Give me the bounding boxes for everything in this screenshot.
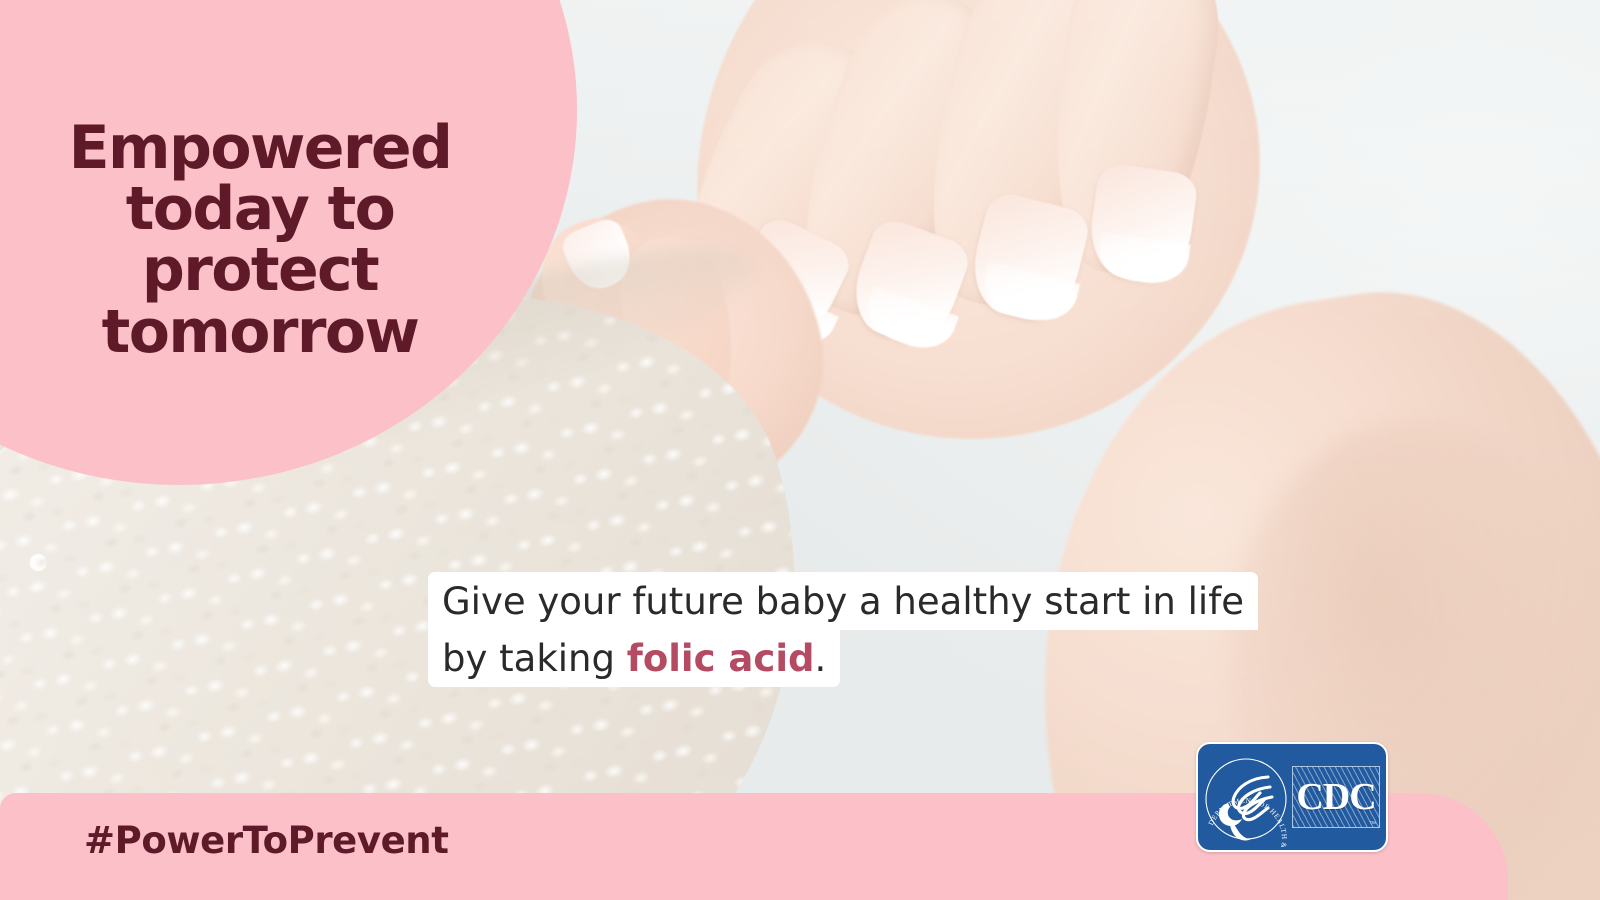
cdc-wordmark-text: CDC [1296,778,1375,816]
trademark-symbol: ™ [1369,821,1376,828]
headline-line-1: Empowered [0,118,520,179]
cdc-logo[interactable]: DEPARTMENT OF HEALTH & HUMAN SERVICES US… [1196,742,1388,852]
page-title: Empowered today to protect tomorrow [0,118,520,363]
poster-canvas: Empowered today to protect tomorrow Give… [0,0,1600,900]
body-copy-line-1: Give your future baby a healthy start in… [428,572,1258,630]
headline-line-3: tomorrow [0,302,520,363]
campaign-hashtag: #PowerToPrevent [84,819,449,862]
body-copy-prefix: by taking [442,637,627,680]
body-copy-suffix: . [815,637,827,680]
headline-line-2: today to protect [0,179,520,301]
body-copy-line-2: by taking folic acid. [428,629,840,687]
cdc-wordmark: CDC ™ [1292,766,1380,828]
hhs-seal-icon: DEPARTMENT OF HEALTH & HUMAN SERVICES US… [1198,747,1294,847]
folic-acid-emphasis: folic acid [627,637,815,680]
body-copy: Give your future baby a healthy start in… [428,572,1258,687]
